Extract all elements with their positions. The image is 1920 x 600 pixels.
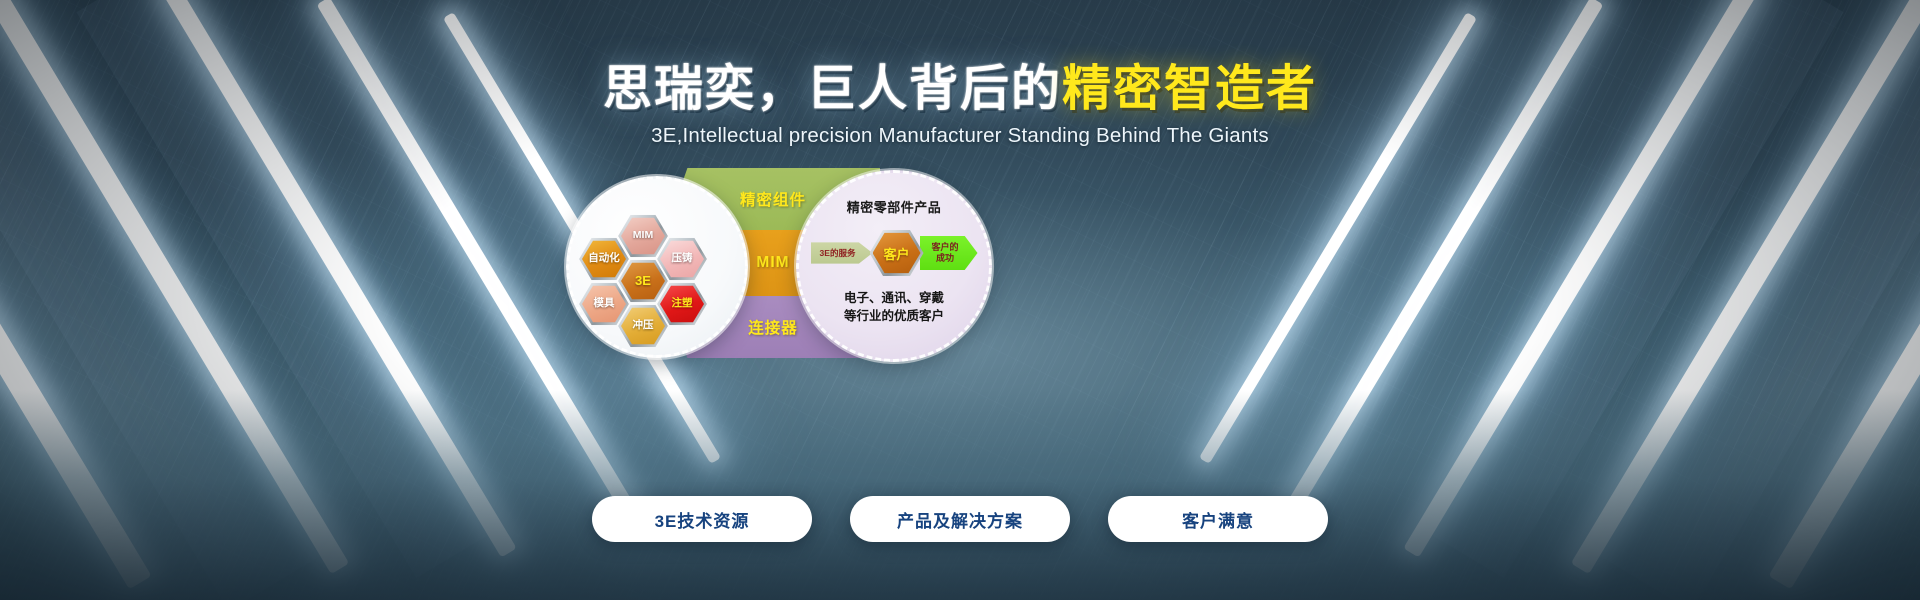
ellipse-footer-line1: 电子、通讯、穿戴 — [844, 289, 944, 307]
hex-label: 压铸 — [672, 253, 693, 265]
band-label: 精密组件 — [740, 188, 806, 210]
page-title: 思瑞奕，巨人背后的精密智造者 — [0, 64, 1920, 115]
hex-3e-core: 3E — [618, 259, 668, 303]
hex-stamping: 冲压 — [618, 304, 668, 348]
arrow-3e-service: 3E的服务 — [811, 239, 873, 267]
hex-label: 3E — [635, 274, 651, 288]
hero-banner: 思瑞奕，巨人背后的精密智造者 3E,Intellectual precision… — [0, 0, 1920, 600]
arrow-label-line2: 成功 — [936, 253, 954, 263]
hex-label: 自动化 — [588, 253, 620, 265]
cta-button-group: 3E技术资源 产品及解决方案 客户满意 — [0, 496, 1920, 542]
arrow-customer-success: 客户的成功 — [920, 236, 978, 270]
hex-label: 客户 — [883, 244, 909, 263]
headline-accent-text: 精密智造者 — [1062, 62, 1317, 116]
ellipse-footer: 电子、通讯、穿戴 等行业的优质客户 — [844, 289, 944, 325]
arrow-label: 3E的服务 — [820, 247, 856, 259]
customer-ellipse: 精密零部件产品 3E的服务 客户 客户的成功 电子、通讯、穿戴 等行业的优质客户 — [796, 170, 992, 362]
hex-label: 注塑 — [672, 298, 693, 310]
hex-label: 冲压 — [633, 320, 654, 332]
service-flow: 3E的服务 客户 客户的成功 — [799, 229, 989, 277]
cta-products-solutions-button[interactable]: 产品及解决方案 — [850, 496, 1070, 542]
hex-injection-molding: 注塑 — [657, 282, 707, 326]
cta-customer-satisfaction-button[interactable]: 客户满意 — [1108, 496, 1328, 542]
arrow-label: 客户的成功 — [931, 242, 958, 264]
hex-label: 模具 — [594, 298, 615, 310]
hex-mold: 模具 — [579, 282, 629, 326]
business-model-diagram: 精密组件 MIM 连接器 自动化 MIM 压铸 — [566, 168, 986, 358]
headline-block: 思瑞奕，巨人背后的精密智造者 3E,Intellectual precision… — [0, 64, 1920, 148]
hex-customer: 客户 — [870, 229, 924, 277]
hex-label: MIM — [633, 230, 653, 242]
arrow-label-line1: 客户的 — [931, 242, 958, 252]
hex-automation: 自动化 — [579, 237, 629, 281]
ellipse-footer-line2: 等行业的优质客户 — [844, 307, 944, 325]
ellipse-title: 精密零部件产品 — [847, 197, 942, 216]
headline-main-text: 思瑞奕，巨人背后的 — [603, 62, 1062, 116]
hex-die-casting: 压铸 — [657, 237, 707, 281]
page-subtitle: 3E,Intellectual precision Manufacturer S… — [0, 124, 1920, 148]
cta-tech-resources-button[interactable]: 3E技术资源 — [592, 496, 812, 542]
band-label: 连接器 — [748, 316, 798, 338]
hex-mim: MIM — [618, 214, 668, 258]
hexagon-cluster: 自动化 MIM 压铸 3E 模具 — [566, 176, 748, 358]
band-label: MIM — [756, 254, 789, 272]
